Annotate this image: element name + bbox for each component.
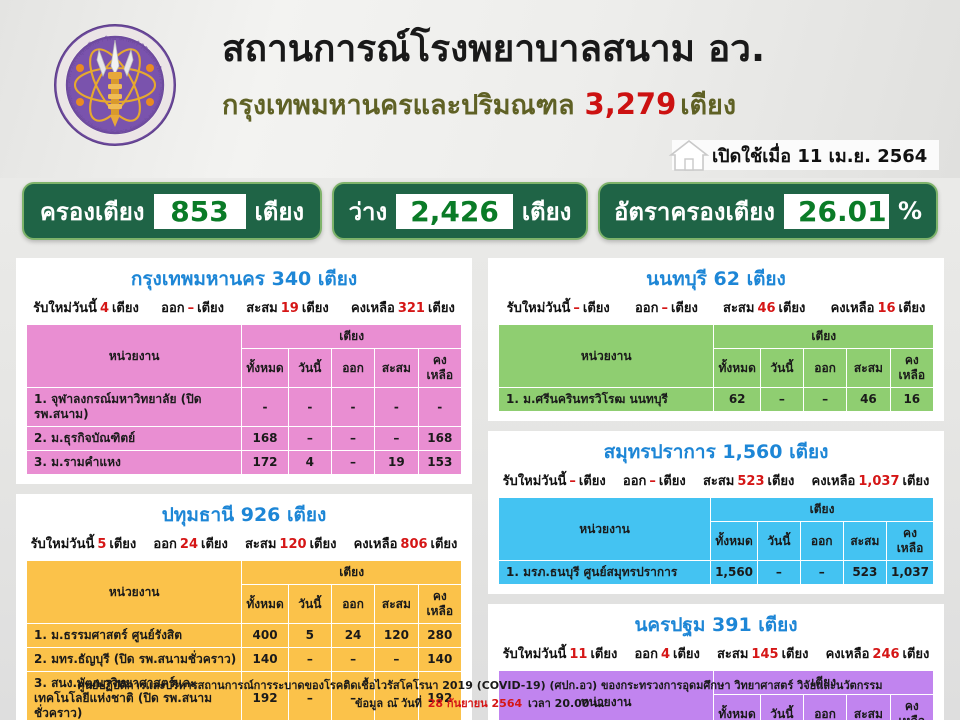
- footer-data-time: เวลา 20.00 น.: [528, 697, 605, 710]
- section-bangkok: กรุงเทพมหานคร 340 เตียงรับใหม่วันนี้4เตี…: [16, 258, 472, 484]
- summary-remaining-unit: เตียง: [903, 647, 930, 662]
- stat-vacant-value: 2,426: [396, 194, 513, 229]
- ministry-seal-logo: กระทรวงการอุดมศึกษา วิทยาศาสตร์ วิจัยและ…: [52, 22, 178, 148]
- summary-new-today-unit: เตียง: [590, 647, 617, 662]
- summary-new-today-label: รับใหม่วันนี้: [507, 301, 571, 316]
- table-header-row-1: หน่วยงานเตียง: [499, 498, 934, 522]
- subtitle-total-beds: 3,279: [585, 87, 677, 121]
- summary-accumulated-unit: เตียง: [782, 647, 809, 662]
- cell-unit-name: 1. ม.ธรรมศาสตร์ ศูนย์รังสิต: [27, 624, 242, 648]
- summary-remaining: คงเหลือ321เตียง: [351, 297, 455, 318]
- col-header-beds-group: เตียง: [242, 325, 462, 349]
- col-header-total: ทั้งหมด: [242, 349, 288, 388]
- summary-remaining-label: คงเหลือ: [351, 301, 395, 316]
- summary-accumulated-label: สะสม: [723, 301, 754, 316]
- summary-accumulated-value: 145: [751, 647, 778, 662]
- summary-discharged-label: ออก: [161, 301, 185, 316]
- table-header-row-1: หน่วยงานเตียง: [27, 325, 462, 349]
- stat-occupied-beds: ครองเตียง 853 เตียง: [22, 182, 322, 240]
- summary-discharged-value: 24: [180, 537, 198, 552]
- col-header-out: ออก: [803, 349, 846, 388]
- table-row: 1. มรภ.ธนบุรี ศูนย์สมุทรปราการ1,560––523…: [499, 561, 934, 585]
- cell-accum: –: [375, 427, 418, 451]
- cell-left: 280: [418, 624, 461, 648]
- cell-out: –: [803, 388, 846, 412]
- cell-left: 16: [890, 388, 933, 412]
- cell-total: -: [242, 388, 288, 427]
- col-header-beds-group: เตียง: [242, 561, 462, 585]
- cell-unit-name: 3. ม.รามคำแหง: [27, 451, 242, 475]
- cell-out: –: [331, 427, 374, 451]
- summary-new-today-label: รับใหม่วันนี้: [503, 647, 567, 662]
- summary-new-today-unit: เตียง: [112, 301, 139, 316]
- summary-accumulated: สะสม19เตียง: [246, 297, 328, 318]
- summary-discharged-unit: เตียง: [197, 301, 224, 316]
- summary-new-today-value: 4: [100, 301, 109, 316]
- cell-left: 168: [418, 427, 461, 451]
- cell-accum: 120: [375, 624, 418, 648]
- summary-remaining-label: คงเหลือ: [831, 301, 875, 316]
- summary-discharged-label: ออก: [634, 647, 658, 662]
- summary-remaining-unit: เตียง: [431, 537, 458, 552]
- section-title: ปทุมธานี 926 เตียง: [16, 494, 472, 532]
- summary-discharged-unit: เตียง: [201, 537, 228, 552]
- section-nonthaburi: นนทบุรี 62 เตียงรับใหม่วันนี้–เตียงออก–เ…: [488, 258, 944, 421]
- summary-new-today-value: –: [569, 474, 576, 489]
- cell-today: -: [288, 388, 331, 427]
- summary-accumulated-label: สะสม: [245, 537, 276, 552]
- summary-discharged-unit: เตียง: [671, 301, 698, 316]
- col-header-total: ทั้งหมด: [242, 585, 288, 624]
- summary-new-today: รับใหม่วันนี้11เตียง: [503, 643, 618, 664]
- cell-left: 153: [418, 451, 461, 475]
- summary-remaining-unit: เตียง: [428, 301, 455, 316]
- summary-accumulated: สะสม46เตียง: [723, 297, 805, 318]
- stat-occupancy-rate: อัตราครองเตียง 26.01 %: [598, 182, 938, 240]
- stat-vacant-beds: ว่าง 2,426 เตียง: [332, 182, 588, 240]
- cell-out: 24: [331, 624, 374, 648]
- cell-today: –: [760, 388, 803, 412]
- section-summary: รับใหม่วันนี้11เตียงออก4เตียงสะสม145เตีย…: [488, 642, 944, 670]
- col-header-unit: หน่วยงาน: [27, 325, 242, 388]
- summary-new-today: รับใหม่วันนี้–เตียง: [507, 297, 610, 318]
- col-header-accum: สะสม: [847, 349, 890, 388]
- summary-accumulated-value: 120: [279, 537, 306, 552]
- col-header-today: วันนี้: [760, 349, 803, 388]
- col-header-today: วันนี้: [758, 522, 801, 561]
- cell-out: -: [331, 388, 374, 427]
- footer-data-date: 28 กันยายน 2564: [428, 697, 522, 710]
- section-title: นนทบุรี 62 เตียง: [488, 258, 944, 296]
- left-column: กรุงเทพมหานคร 340 เตียงรับใหม่วันนี้4เตี…: [16, 258, 472, 720]
- cell-total: 400: [242, 624, 288, 648]
- cell-today: –: [758, 561, 801, 585]
- cell-total: 168: [242, 427, 288, 451]
- right-column: นนทบุรี 62 เตียงรับใหม่วันนี้–เตียงออก–เ…: [488, 258, 944, 720]
- section-title: กรุงเทพมหานคร 340 เตียง: [16, 258, 472, 296]
- beds-table: หน่วยงานเตียงทั้งหมดวันนี้ออกสะสมคงเหลือ…: [498, 324, 934, 412]
- cell-out: –: [331, 451, 374, 475]
- col-header-total: ทั้งหมด: [711, 522, 758, 561]
- summary-remaining-value: 806: [400, 537, 427, 552]
- summary-accumulated: สะสม120เตียง: [245, 533, 336, 554]
- cell-today: –: [288, 648, 331, 672]
- summary-discharged-unit: เตียง: [673, 647, 700, 662]
- summary-discharged: ออก–เตียง: [161, 297, 224, 318]
- summary-accumulated-unit: เตียง: [768, 474, 795, 489]
- col-header-today: วันนี้: [288, 585, 331, 624]
- col-header-unit: หน่วยงาน: [499, 325, 714, 388]
- summary-discharged: ออก24เตียง: [153, 533, 227, 554]
- col-header-unit: หน่วยงาน: [499, 498, 711, 561]
- cell-accum: -: [375, 388, 418, 427]
- summary-accumulated-value: 19: [281, 301, 299, 316]
- summary-discharged-unit: เตียง: [659, 474, 686, 489]
- footer-line-2: ข้อมูล ณ วันที่ 28 กันยายน 2564 เวลา 20.…: [0, 695, 960, 714]
- summary-discharged-value: –: [661, 301, 668, 316]
- cell-left: -: [418, 388, 461, 427]
- col-header-out: ออก: [331, 585, 374, 624]
- cell-total: 172: [242, 451, 288, 475]
- footer-line-1: ศูนย์ปฏิบัติการและบริหารสถานการณ์การระบา…: [0, 677, 960, 696]
- summary-new-today-label: รับใหม่วันนี้: [503, 474, 567, 489]
- summary-remaining-unit: เตียง: [903, 474, 930, 489]
- beds-table: หน่วยงานเตียงทั้งหมดวันนี้ออกสะสมคงเหลือ…: [26, 324, 462, 475]
- table-header-row-1: หน่วยงานเตียง: [27, 561, 462, 585]
- cell-unit-name: 1. จุฬาลงกรณ์มหาวิทยาลัย (ปิด รพ.สนาม): [27, 388, 242, 427]
- summary-accumulated-unit: เตียง: [302, 301, 329, 316]
- summary-discharged-value: 4: [661, 647, 670, 662]
- summary-remaining-value: 16: [877, 301, 895, 316]
- table-row: 1. ม.ธรรมศาสตร์ ศูนย์รังสิต400524120280: [27, 624, 462, 648]
- summary-new-today-value: 5: [97, 537, 106, 552]
- summary-discharged: ออก4เตียง: [634, 643, 699, 664]
- cell-left: 140: [418, 648, 461, 672]
- summary-accumulated-unit: เตียง: [779, 301, 806, 316]
- summary-accumulated-value: 523: [737, 474, 764, 489]
- summary-new-today-value: –: [573, 301, 580, 316]
- summary-accumulated: สะสม145เตียง: [717, 643, 808, 664]
- table-row: 3. ม.รามคำแหง1724–19153: [27, 451, 462, 475]
- cell-accum: –: [375, 648, 418, 672]
- section-title: สมุทรปราการ 1,560 เตียง: [488, 431, 944, 469]
- summary-accumulated-label: สะสม: [717, 647, 748, 662]
- summary-remaining: คงเหลือ806เตียง: [354, 533, 458, 554]
- col-header-accum: สะสม: [375, 585, 418, 624]
- summary-new-today-label: รับใหม่วันนี้: [31, 537, 95, 552]
- section-summary: รับใหม่วันนี้4เตียงออก–เตียงสะสม19เตียงค…: [16, 296, 472, 324]
- stat-rate-value: 26.01: [784, 194, 889, 229]
- cell-accum: 19: [375, 451, 418, 475]
- col-header-unit: หน่วยงาน: [27, 561, 242, 624]
- col-header-left: คงเหลือ: [890, 349, 933, 388]
- stat-vacant-unit: เตียง: [522, 192, 572, 231]
- header: กระทรวงการอุดมศึกษา วิทยาศาสตร์ วิจัยและ…: [0, 0, 960, 178]
- col-header-left: คงเหลือ: [887, 522, 934, 561]
- house-icon: [668, 138, 710, 172]
- summary-new-today: รับใหม่วันนี้4เตียง: [33, 297, 139, 318]
- summary-remaining-value: 1,037: [858, 474, 899, 489]
- section-title: นครปฐม 391 เตียง: [488, 604, 944, 642]
- stat-rate-unit: %: [898, 197, 922, 225]
- summary-remaining-value: 246: [872, 647, 899, 662]
- summary-new-today-unit: เตียง: [109, 537, 136, 552]
- summary-new-today-unit: เตียง: [579, 474, 606, 489]
- cell-unit-name: 1. ม.ศรีนครินทรวิโรฒ นนทบุรี: [499, 388, 714, 412]
- cell-today: –: [288, 427, 331, 451]
- summary-remaining: คงเหลือ16เตียง: [831, 297, 926, 318]
- summary-discharged: ออก–เตียง: [635, 297, 698, 318]
- footer-data-as-of-label: ข้อมูล ณ วันที่: [355, 697, 422, 710]
- col-header-left: คงเหลือ: [418, 585, 461, 624]
- col-header-left: คงเหลือ: [418, 349, 461, 388]
- col-header-beds-group: เตียง: [711, 498, 934, 522]
- summary-remaining-unit: เตียง: [899, 301, 926, 316]
- page-title: สถานการณ์โรงพยาบาลสนาม อว.: [222, 28, 922, 71]
- col-header-total: ทั้งหมด: [714, 349, 760, 388]
- summary-accumulated-value: 46: [757, 301, 775, 316]
- cell-total: 1,560: [711, 561, 758, 585]
- cell-today: 5: [288, 624, 331, 648]
- summary-new-today-unit: เตียง: [583, 301, 610, 316]
- cell-left: 1,037: [887, 561, 934, 585]
- summary-discharged-value: –: [649, 474, 656, 489]
- stat-occupied-unit: เตียง: [255, 192, 305, 231]
- summary-discharged-label: ออก: [153, 537, 177, 552]
- summary-discharged: ออก–เตียง: [623, 470, 686, 491]
- stat-occupied-label: ครองเตียง: [40, 192, 145, 231]
- summary-stats: ครองเตียง 853 เตียง ว่าง 2,426 เตียง อัต…: [0, 182, 960, 244]
- cell-today: 4: [288, 451, 331, 475]
- section-samutprakan: สมุทรปราการ 1,560 เตียงรับใหม่วันนี้–เตี…: [488, 431, 944, 594]
- summary-accumulated: สะสม523เตียง: [703, 470, 794, 491]
- cell-out: –: [331, 648, 374, 672]
- summary-new-today: รับใหม่วันนี้–เตียง: [503, 470, 606, 491]
- summary-remaining-value: 321: [398, 301, 425, 316]
- summary-accumulated-label: สะสม: [703, 474, 734, 489]
- cell-accum: 46: [847, 388, 890, 412]
- col-header-out: ออก: [800, 522, 843, 561]
- subtitle-beds-unit: เตียง: [680, 90, 736, 121]
- cell-accum: 523: [843, 561, 886, 585]
- summary-new-today-value: 11: [569, 647, 587, 662]
- summary-accumulated-unit: เตียง: [310, 537, 337, 552]
- beds-table: หน่วยงานเตียงทั้งหมดวันนี้ออกสะสมคงเหลือ…: [498, 497, 934, 585]
- subtitle-region: กรุงเทพมหานครและปริมณฑล: [222, 90, 575, 121]
- section-summary: รับใหม่วันนี้–เตียงออก–เตียงสะสม523เตียง…: [488, 469, 944, 497]
- cell-unit-name: 2. ม.ธุรกิจบัณฑิตย์: [27, 427, 242, 451]
- summary-discharged-label: ออก: [635, 301, 659, 316]
- table-row: 1. จุฬาลงกรณ์มหาวิทยาลัย (ปิด รพ.สนาม)--…: [27, 388, 462, 427]
- col-header-accum: สะสม: [375, 349, 418, 388]
- section-summary: รับใหม่วันนี้5เตียงออก24เตียงสะสม120เตีย…: [16, 532, 472, 560]
- stat-vacant-label: ว่าง: [349, 192, 388, 231]
- summary-remaining: คงเหลือ246เตียง: [826, 643, 930, 664]
- cell-unit-name: 1. มรภ.ธนบุรี ศูนย์สมุทรปราการ: [499, 561, 711, 585]
- table-header-row-1: หน่วยงานเตียง: [499, 325, 934, 349]
- stat-occupied-value: 853: [154, 194, 246, 229]
- cell-total: 62: [714, 388, 760, 412]
- summary-remaining: คงเหลือ1,037เตียง: [812, 470, 930, 491]
- summary-discharged-value: –: [188, 301, 195, 316]
- open-date-text: เปิดใช้เมื่อ 11 เม.ย. 2564: [712, 141, 927, 170]
- summary-accumulated-label: สะสม: [246, 301, 277, 316]
- summary-remaining-label: คงเหลือ: [812, 474, 856, 489]
- col-header-out: ออก: [331, 349, 374, 388]
- cell-out: –: [800, 561, 843, 585]
- summary-remaining-label: คงเหลือ: [826, 647, 870, 662]
- page-subtitle: กรุงเทพมหานครและปริมณฑล3,279เตียง: [222, 88, 942, 121]
- section-summary: รับใหม่วันนี้–เตียงออก–เตียงสะสม46เตียงค…: [488, 296, 944, 324]
- table-row: 2. มทร.ธัญบุรี (ปิด รพ.สนามชั่วคราว)140–…: [27, 648, 462, 672]
- footer: ศูนย์ปฏิบัติการและบริหารสถานการณ์การระบา…: [0, 677, 960, 714]
- table-row: 1. ม.ศรีนครินทรวิโรฒ นนทบุรี62––4616: [499, 388, 934, 412]
- summary-new-today-label: รับใหม่วันนี้: [33, 301, 97, 316]
- col-header-beds-group: เตียง: [714, 325, 934, 349]
- infographic-root: กระทรวงการอุดมศึกษา วิทยาศาสตร์ วิจัยและ…: [0, 0, 960, 720]
- summary-discharged-label: ออก: [623, 474, 647, 489]
- cell-total: 140: [242, 648, 288, 672]
- open-date-badge: เปิดใช้เมื่อ 11 เม.ย. 2564: [672, 140, 939, 170]
- stat-rate-label: อัตราครองเตียง: [614, 192, 775, 231]
- summary-new-today: รับใหม่วันนี้5เตียง: [31, 533, 137, 554]
- cell-unit-name: 2. มทร.ธัญบุรี (ปิด รพ.สนามชั่วคราว): [27, 648, 242, 672]
- table-row: 2. ม.ธุรกิจบัณฑิตย์168–––168: [27, 427, 462, 451]
- col-header-today: วันนี้: [288, 349, 331, 388]
- summary-remaining-label: คงเหลือ: [354, 537, 398, 552]
- col-header-accum: สะสม: [843, 522, 886, 561]
